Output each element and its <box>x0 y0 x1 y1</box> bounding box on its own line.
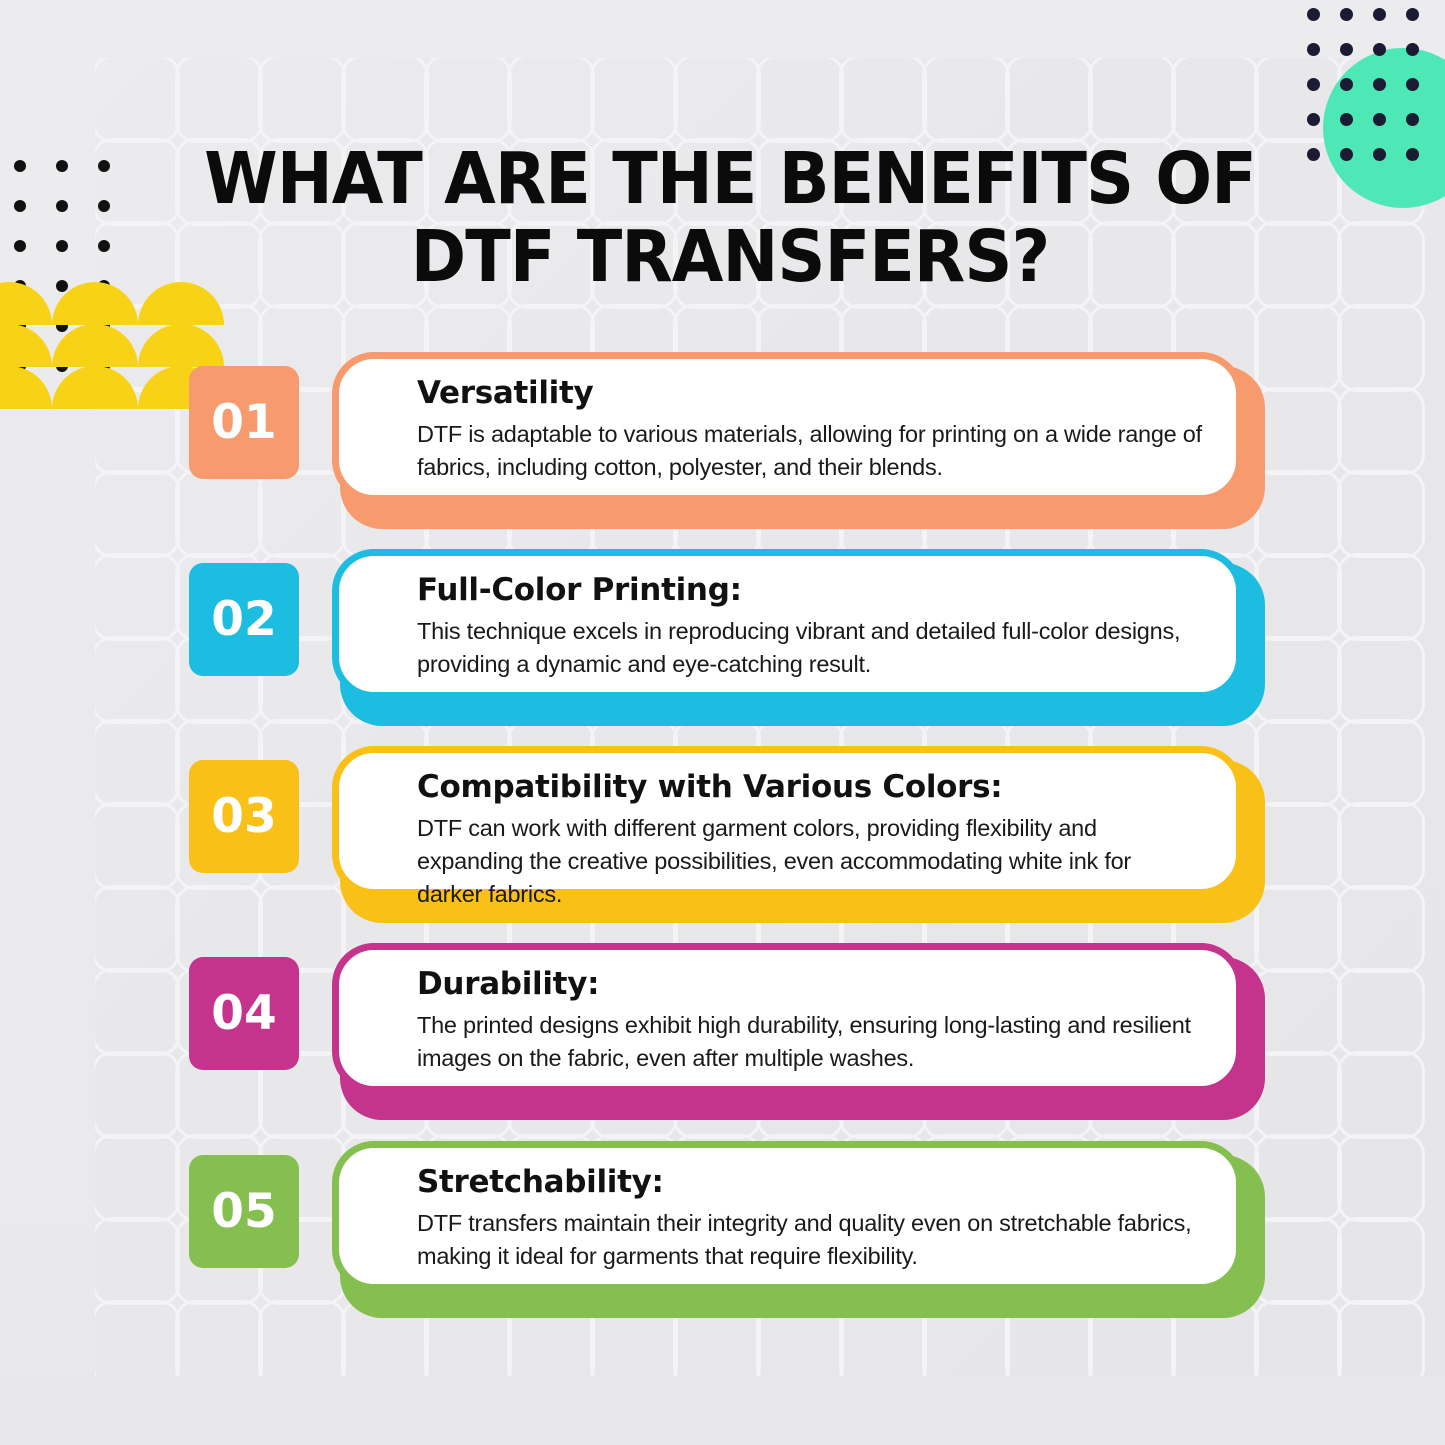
infographic-poster: WHAT ARE THE BENEFITS OF DTF TRANSFERS? … <box>0 0 1445 1445</box>
decorative-dot <box>56 160 68 172</box>
decorative-dot <box>56 240 68 252</box>
grid-cell <box>178 58 260 140</box>
page-title: WHAT ARE THE BENEFITS OF DTF TRANSFERS? <box>185 140 1275 296</box>
grid-cell <box>1008 58 1090 140</box>
card-body-text: DTF transfers maintain their integrity a… <box>417 1207 1202 1273</box>
benefit-item: 05Stretchability:DTF transfers maintain … <box>0 1141 1445 1316</box>
grid-cell <box>593 58 675 140</box>
benefit-item: 02Full-Color Printing:This technique exc… <box>0 549 1445 724</box>
decorative-dot <box>14 200 26 212</box>
card-title: Versatility <box>417 373 1202 413</box>
decorative-dot <box>1373 8 1386 21</box>
card-body-text: This technique excels in reproducing vib… <box>417 615 1202 681</box>
benefit-card: Full-Color Printing:This technique excel… <box>332 549 1257 724</box>
green-circle-decoration <box>1323 48 1445 208</box>
semicircle-shape <box>52 282 138 325</box>
decorative-dot <box>1307 148 1320 161</box>
grid-cell <box>510 58 592 140</box>
grid-cell <box>1340 224 1422 306</box>
grid-cell <box>261 58 343 140</box>
grid-cell <box>759 58 841 140</box>
card-title: Full-Color Printing: <box>417 570 1202 610</box>
item-number-badge: 04 <box>189 957 299 1070</box>
decorative-dot <box>1307 8 1320 21</box>
card-body-text: The printed designs exhibit high durabil… <box>417 1009 1202 1075</box>
decorative-dot <box>14 160 26 172</box>
card-title: Stretchability: <box>417 1162 1202 1202</box>
decorative-dot <box>98 160 110 172</box>
grid-cell <box>1091 58 1173 140</box>
grid-cell <box>95 141 177 223</box>
grid-cell <box>842 58 924 140</box>
decorative-dot <box>1340 43 1353 56</box>
card-title: Durability: <box>417 964 1202 1004</box>
card-surface: Durability:The printed designs exhibit h… <box>332 943 1243 1093</box>
benefit-card: Stretchability:DTF transfers maintain th… <box>332 1141 1257 1316</box>
grid-cell <box>427 58 509 140</box>
decorative-dot <box>56 200 68 212</box>
item-number-badge: 01 <box>189 366 299 479</box>
grid-mask-bottom <box>0 1376 1445 1445</box>
decorative-dot <box>1406 8 1419 21</box>
grid-mask-top <box>0 0 1445 58</box>
benefit-card: VersatilityDTF is adaptable to various m… <box>332 352 1257 527</box>
card-title: Compatibility with Various Colors: <box>417 767 1202 807</box>
decorative-dot <box>98 200 110 212</box>
card-surface: Compatibility with Various Colors:DTF ca… <box>332 746 1243 896</box>
benefit-card: Compatibility with Various Colors:DTF ca… <box>332 746 1257 921</box>
benefit-item: 01VersatilityDTF is adaptable to various… <box>0 352 1445 527</box>
card-surface: Full-Color Printing:This technique excel… <box>332 549 1243 699</box>
grid-cell <box>344 58 426 140</box>
decorative-dot <box>14 240 26 252</box>
grid-cell <box>1174 58 1256 140</box>
decorative-dot <box>98 240 110 252</box>
item-number-badge: 05 <box>189 1155 299 1268</box>
card-body-text: DTF can work with different garment colo… <box>417 812 1202 911</box>
benefit-card: Durability:The printed designs exhibit h… <box>332 943 1257 1118</box>
decorative-dot <box>1307 78 1320 91</box>
decorative-dot <box>1307 113 1320 126</box>
card-surface: VersatilityDTF is adaptable to various m… <box>332 352 1243 502</box>
grid-cell <box>676 58 758 140</box>
benefit-item: 03Compatibility with Various Colors:DTF … <box>0 746 1445 921</box>
card-surface: Stretchability:DTF transfers maintain th… <box>332 1141 1243 1291</box>
decorative-dot <box>1340 8 1353 21</box>
item-number-badge: 03 <box>189 760 299 873</box>
grid-cell <box>95 58 177 140</box>
decorative-dot <box>1307 43 1320 56</box>
grid-cell <box>925 58 1007 140</box>
semicircle-shape <box>0 282 52 325</box>
card-body-text: DTF is adaptable to various materials, a… <box>417 418 1202 484</box>
item-number-badge: 02 <box>189 563 299 676</box>
benefit-item: 04Durability:The printed designs exhibit… <box>0 943 1445 1118</box>
